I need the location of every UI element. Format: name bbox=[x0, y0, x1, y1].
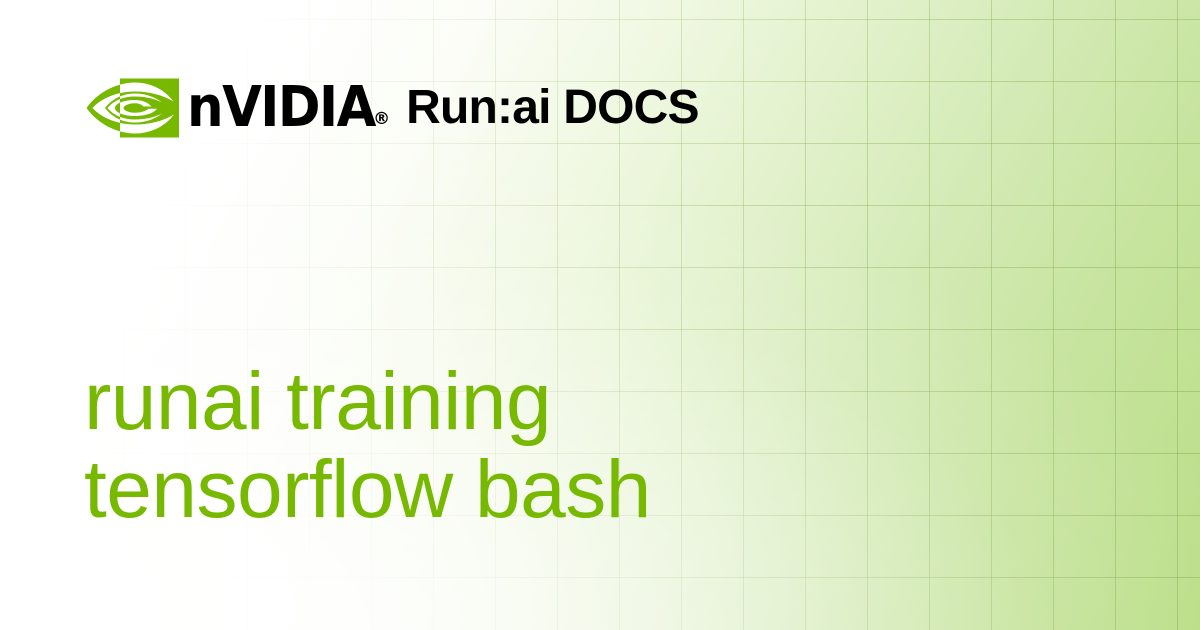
nvidia-eye-logo-icon bbox=[85, 77, 181, 139]
page-title-line-2: tensorflow bash bbox=[84, 446, 1084, 534]
nvidia-wordmark-text: nVIDIA bbox=[187, 80, 375, 136]
page-title: runai training tensorflow bash bbox=[84, 358, 1084, 534]
nvidia-wordmark: nVIDIA® bbox=[187, 80, 390, 136]
brand-lockup: nVIDIA® Run:ai DOCS bbox=[85, 76, 699, 140]
social-share-card: nVIDIA® Run:ai DOCS runai training tenso… bbox=[0, 0, 1200, 630]
registered-trademark-icon: ® bbox=[373, 111, 390, 128]
product-name: Run:ai DOCS bbox=[406, 84, 699, 132]
page-title-line-1: runai training bbox=[84, 358, 1084, 446]
